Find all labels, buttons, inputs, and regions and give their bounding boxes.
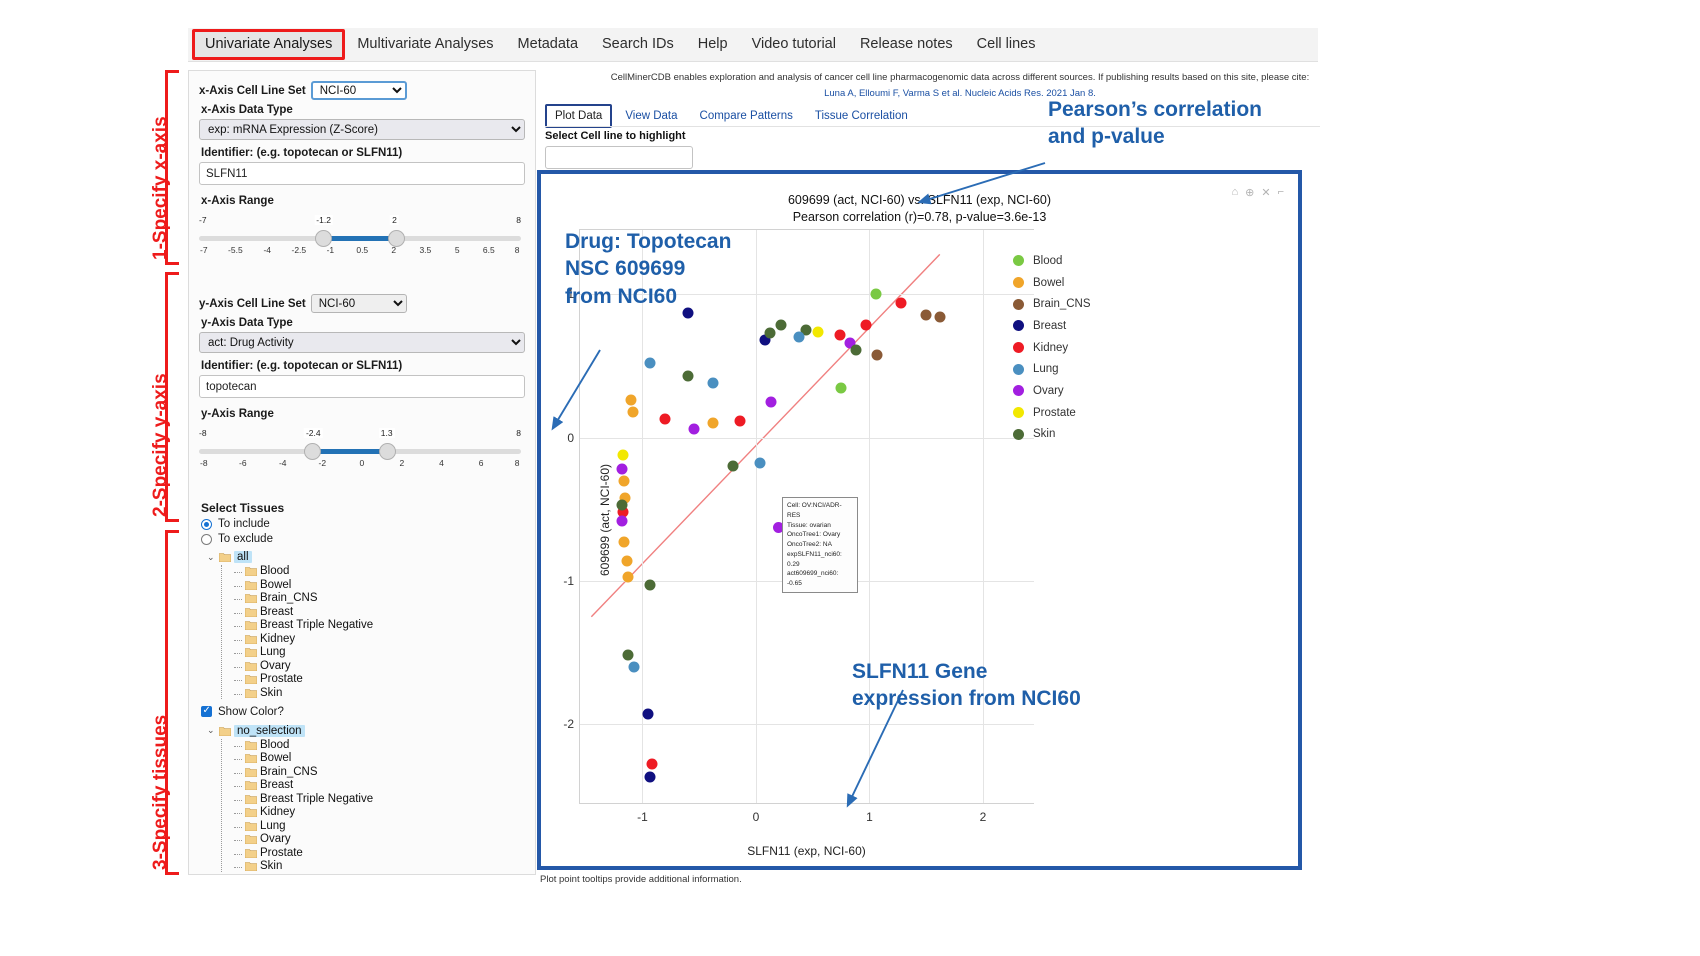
- x-gridline: [869, 230, 870, 803]
- scatter-point[interactable]: [645, 358, 656, 369]
- legend-swatch-icon: [1013, 255, 1024, 266]
- folder-icon: [245, 821, 257, 831]
- scatter-point[interactable]: [646, 759, 657, 770]
- x-tick-label: 0: [753, 810, 760, 824]
- subtab-tissue-correlation[interactable]: Tissue Correlation: [806, 105, 917, 127]
- scatter-point[interactable]: [616, 515, 627, 526]
- y-slider-ticks: -8 -6 -4 -2 0 2 4 6 8: [199, 458, 521, 470]
- radio-to-include[interactable]: To include: [201, 518, 525, 530]
- folder-icon: [245, 634, 257, 644]
- folder-icon: [245, 593, 257, 603]
- y-range-slider[interactable]: -8 8 -2.4 1.3 -8 -6 -4 -2 0 2 4 6 8: [199, 425, 521, 473]
- folder-icon: [245, 674, 257, 684]
- tree-item-label: Prostate: [260, 673, 303, 685]
- folder-icon: [245, 647, 257, 657]
- tree-excl-item-ovary[interactable]: Ovary: [245, 833, 525, 845]
- tissue-tree-include[interactable]: ⌄ all Blood Bowel Brain_CNS Breast Breas…: [207, 551, 525, 699]
- legend-label: Brain_CNS: [1033, 298, 1091, 310]
- scatter-point[interactable]: [629, 661, 640, 672]
- plot-title-line2: Pearson correlation (r)=0.78, p-value=3.…: [541, 209, 1298, 226]
- folder-icon: [245, 794, 257, 804]
- tree-item-breast[interactable]: Breast: [245, 606, 525, 618]
- checkbox-icon: [201, 706, 212, 717]
- folder-icon: [245, 753, 257, 763]
- scatter-point[interactable]: [660, 414, 671, 425]
- annotation-label-tissues: 3-Specify tissues: [150, 715, 172, 870]
- x-cellline-row: x-Axis Cell Line Set NCI-60: [199, 81, 525, 100]
- y-tick: -6: [239, 458, 247, 468]
- y-slider-value-high: 1.3: [379, 428, 395, 438]
- legend-item-brain_cns[interactable]: Brain_CNS: [1013, 293, 1091, 315]
- select-tissues-title: Select Tissues: [201, 501, 525, 515]
- folder-icon: [245, 767, 257, 777]
- x-tick: -2.5: [291, 245, 306, 255]
- scatter-point[interactable]: [616, 464, 627, 475]
- y-tick-label: 0: [567, 431, 574, 445]
- subtab-view-data[interactable]: View Data: [616, 105, 686, 127]
- scatter-point[interactable]: [896, 298, 907, 309]
- radio-include-label: To include: [218, 518, 270, 530]
- y-gridline: [580, 438, 1034, 439]
- y-slider-fill: [312, 449, 386, 454]
- legend-label: Skin: [1033, 428, 1055, 440]
- tree-item-ovary[interactable]: Ovary: [245, 660, 525, 672]
- tree-item-label: Kidney: [260, 806, 295, 818]
- tree-excl-item-brain-cns[interactable]: Brain_CNS: [245, 766, 525, 778]
- nav-tab-search-ids[interactable]: Search IDs: [590, 31, 686, 58]
- tree-item-label: Kidney: [260, 633, 295, 645]
- point-tooltip: Cell: OV:NCI/ADR-RES Tissue: ovarian Onc…: [782, 497, 858, 593]
- radio-to-exclude[interactable]: To exclude: [201, 533, 525, 545]
- folder-icon: [245, 848, 257, 858]
- folder-icon: [245, 620, 257, 630]
- plot-title-line1: 609699 (act, NCI-60) vs. SLFN11 (exp, NC…: [541, 192, 1298, 209]
- x-tick: 5: [455, 245, 460, 255]
- plot-legend[interactable]: BloodBowelBrain_CNSBreastKidneyLungOvary…: [1013, 250, 1091, 445]
- legend-item-lung[interactable]: Lung: [1013, 358, 1091, 380]
- nav-tab-release-notes[interactable]: Release notes: [848, 31, 965, 58]
- folder-icon: [245, 566, 257, 576]
- scatter-point[interactable]: [707, 418, 718, 429]
- legend-label: Ovary: [1033, 385, 1064, 397]
- plotly-modebar[interactable]: ⌂ ⊕ ✕ ⌐: [1231, 186, 1284, 199]
- x-gridline: [983, 230, 984, 803]
- y-tick: 4: [439, 458, 444, 468]
- legend-label: Bowel: [1033, 277, 1064, 289]
- tree-item-label: Brain_CNS: [260, 592, 318, 604]
- y-identifier-label: Identifier: (e.g. topotecan or SLFN11): [201, 360, 525, 372]
- legend-item-blood[interactable]: Blood: [1013, 250, 1091, 272]
- x-range-max: 8: [516, 215, 521, 225]
- show-color-checkbox[interactable]: Show Color?: [201, 706, 525, 718]
- x-tick: 2: [391, 245, 396, 255]
- y-tick-label: -2: [563, 717, 574, 731]
- x-range-label: x-Axis Range: [201, 195, 525, 207]
- y-range-max: 8: [516, 428, 521, 438]
- tree-root-no-selection-label: no_selection: [234, 725, 305, 737]
- folder-icon: [245, 607, 257, 617]
- x-cellline-select[interactable]: NCI-60: [311, 81, 407, 100]
- folder-icon: [245, 661, 257, 671]
- x-tick-label: 2: [980, 810, 987, 824]
- tissue-tree-exclude[interactable]: ⌄ no_selection Blood Bowel Brain_CNS Bre…: [207, 725, 525, 873]
- scatter-point[interactable]: [622, 571, 633, 582]
- tree-item-breast-triple-negative[interactable]: Breast Triple Negative: [245, 619, 525, 631]
- tree-item-label: Prostate: [260, 847, 303, 859]
- scatter-point[interactable]: [619, 475, 630, 486]
- scatter-point[interactable]: [735, 415, 746, 426]
- legend-swatch-icon: [1013, 277, 1024, 288]
- y-cellline-row: y-Axis Cell Line Set NCI-60: [199, 294, 525, 313]
- tree-item-kidney[interactable]: Kidney: [245, 633, 525, 645]
- legend-swatch-icon: [1013, 299, 1024, 310]
- scatter-point[interactable]: [921, 309, 932, 320]
- folder-icon: [245, 807, 257, 817]
- x-datatype-label: x-Axis Data Type: [201, 104, 525, 116]
- x-tick-label: 1: [866, 810, 873, 824]
- x-gridline: [756, 230, 757, 803]
- nav-tab-cell-lines[interactable]: Cell lines: [965, 31, 1048, 58]
- scatter-point[interactable]: [872, 349, 883, 360]
- tree-item-label: Blood: [260, 739, 289, 751]
- tooltip-act: act609699_nci60: -0.65: [787, 569, 853, 589]
- legend-label: Kidney: [1033, 342, 1068, 354]
- show-color-label: Show Color?: [218, 706, 284, 718]
- tree-item-label: Skin: [260, 860, 282, 872]
- tooltip-oncotree1: OncoTree1: Ovary: [787, 530, 853, 540]
- nav-tab-video-tutorial[interactable]: Video tutorial: [740, 31, 848, 58]
- tree-excl-item-kidney[interactable]: Kidney: [245, 806, 525, 818]
- highlight-cellline-input[interactable]: [545, 146, 693, 169]
- tree-excl-item-breast[interactable]: Breast: [245, 779, 525, 791]
- scatter-point[interactable]: [836, 382, 847, 393]
- highlight-cellline-label: Select Cell line to highlight: [545, 130, 686, 142]
- y-datatype-select[interactable]: act: Drug Activity: [199, 332, 525, 353]
- y-range-min: -8: [199, 428, 207, 438]
- x-datatype-select[interactable]: exp: mRNA Expression (Z-Score): [199, 119, 525, 140]
- x-axis-label: SLFN11 (exp, NCI-60): [579, 844, 1034, 858]
- y-cellline-label: y-Axis Cell Line Set: [199, 298, 306, 310]
- tree-excl-item-blood[interactable]: Blood: [245, 739, 525, 751]
- y-identifier-input[interactable]: [199, 375, 525, 398]
- expander-icon[interactable]: ⌄: [207, 552, 216, 563]
- expander-icon[interactable]: ⌄: [207, 725, 216, 736]
- scatter-point[interactable]: [616, 500, 627, 511]
- x-tick: -5.5: [228, 245, 243, 255]
- x-tick: 0.5: [356, 245, 368, 255]
- legend-swatch-icon: [1013, 429, 1024, 440]
- tree-item-label: Lung: [260, 646, 286, 658]
- tree-excl-item-breast-triple-negative[interactable]: Breast Triple Negative: [245, 793, 525, 805]
- tree-excl-item-bowel[interactable]: Bowel: [245, 752, 525, 764]
- legend-swatch-icon: [1013, 320, 1024, 331]
- legend-label: Blood: [1033, 255, 1062, 267]
- pearson-annotation: Pearson’s correlation and p-value: [1048, 96, 1338, 151]
- x-slider-ticks: -7 -5.5 -4 -2.5 -1 0.5 2 3.5 5 6.5 8: [199, 245, 521, 257]
- tree-item-label: Breast: [260, 779, 293, 791]
- tooltip-exp: expSLFN11_nci60: 0.29: [787, 550, 853, 570]
- x-identifier-input[interactable]: [199, 162, 525, 185]
- x-tick: -4: [263, 245, 271, 255]
- x-slider-value-high: 2: [390, 215, 399, 225]
- legend-item-skin[interactable]: Skin: [1013, 424, 1091, 446]
- scatter-point[interactable]: [626, 395, 637, 406]
- legend-swatch-icon: [1013, 342, 1024, 353]
- legend-label: Breast: [1033, 320, 1066, 332]
- scatter-point[interactable]: [619, 537, 630, 548]
- scatter-point[interactable]: [813, 326, 824, 337]
- scatter-point[interactable]: [755, 458, 766, 469]
- nav-tab-metadata[interactable]: Metadata: [506, 31, 590, 58]
- scatter-point[interactable]: [688, 424, 699, 435]
- tree-excl-item-lung[interactable]: Lung: [245, 820, 525, 832]
- x-tick-label: -1: [637, 810, 648, 824]
- subtab-compare-patterns[interactable]: Compare Patterns: [691, 105, 802, 127]
- scatter-point[interactable]: [765, 396, 776, 407]
- nav-tab-univariate-analyses[interactable]: Univariate Analyses: [192, 29, 345, 60]
- x-range-min: -7: [199, 215, 207, 225]
- radio-exclude-label: To exclude: [218, 533, 273, 545]
- tree-item-label: Skin: [260, 687, 282, 699]
- tree-item-label: Breast Triple Negative: [260, 793, 373, 805]
- zoom-in-icon[interactable]: ⊕: [1245, 186, 1254, 199]
- y-cellline-select[interactable]: NCI-60: [311, 294, 407, 313]
- plot-title: 609699 (act, NCI-60) vs. SLFN11 (exp, NC…: [541, 192, 1298, 226]
- radio-include-icon: [201, 519, 212, 530]
- legend-item-kidney[interactable]: Kidney: [1013, 337, 1091, 359]
- tooltip-cell: Cell: OV:NCI/ADR-RES: [787, 501, 853, 521]
- tree-root-all[interactable]: ⌄ all: [207, 551, 525, 563]
- x-tick: 8: [515, 245, 520, 255]
- scatter-point[interactable]: [764, 328, 775, 339]
- subtab-bar: Plot Data View Data Compare Patterns Tis…: [545, 104, 917, 128]
- tree-item-bowel[interactable]: Bowel: [245, 579, 525, 591]
- scatter-point[interactable]: [628, 406, 639, 417]
- camera-icon[interactable]: ⌂: [1231, 186, 1238, 199]
- folder-icon: [245, 834, 257, 844]
- x-cellline-label: x-Axis Cell Line Set: [199, 85, 306, 97]
- tree-item-label: Ovary: [260, 833, 291, 845]
- x-identifier-label: Identifier: (e.g. topotecan or SLFN11): [201, 147, 525, 159]
- scatter-point[interactable]: [934, 312, 945, 323]
- x-tick: 6.5: [483, 245, 495, 255]
- close-icon[interactable]: ✕: [1261, 186, 1270, 199]
- y-tick: 2: [399, 458, 404, 468]
- tree-root-no-selection[interactable]: ⌄ no_selection: [207, 725, 525, 737]
- x-tick: 3.5: [419, 245, 431, 255]
- scatter-point[interactable]: [707, 378, 718, 389]
- scatter-point[interactable]: [618, 449, 629, 460]
- tree-root-all-label: all: [234, 551, 252, 563]
- tree-item-label: Bowel: [260, 752, 291, 764]
- legend-label: Lung: [1033, 363, 1059, 375]
- y-tick: 0: [360, 458, 365, 468]
- citation-line-1: CellMinerCDB enables exploration and ana…: [600, 72, 1320, 83]
- folder-icon: [245, 740, 257, 750]
- scatter-point[interactable]: [834, 329, 845, 340]
- x-tick: -1: [327, 245, 335, 255]
- nav-tab-multivariate-analyses[interactable]: Multivariate Analyses: [345, 31, 505, 58]
- tree-item-label: Breast Triple Negative: [260, 619, 373, 631]
- tooltip-oncotree2: OncoTree2: NA: [787, 540, 853, 550]
- x-range-slider[interactable]: -7 8 -1.2 2 -7 -5.5 -4 -2.5 -1 0.5 2 3.5…: [199, 212, 521, 260]
- legend-swatch-icon: [1013, 385, 1024, 396]
- legend-label: Prostate: [1033, 407, 1076, 419]
- y-slider-value-low: -2.4: [304, 428, 323, 438]
- tree-excl-item-skin[interactable]: Skin: [245, 860, 525, 872]
- scatter-point[interactable]: [645, 580, 656, 591]
- folder-icon: [245, 688, 257, 698]
- tree-item-label: Brain_CNS: [260, 766, 318, 778]
- tree-item-prostate[interactable]: Prostate: [245, 673, 525, 685]
- y-range-label: y-Axis Range: [201, 408, 525, 420]
- folder-icon: [219, 552, 231, 562]
- y-tick: -8: [200, 458, 208, 468]
- scatter-point[interactable]: [775, 319, 786, 330]
- legend-item-ovary[interactable]: Ovary: [1013, 380, 1091, 402]
- legend-item-prostate[interactable]: Prostate: [1013, 402, 1091, 424]
- folder-icon: [245, 580, 257, 590]
- x-slider-value-low: -1.2: [314, 215, 333, 225]
- scatter-point[interactable]: [622, 650, 633, 661]
- annotation-label-x-axis: 1-Specify x-axis: [150, 116, 172, 260]
- x-slider-fill: [324, 236, 395, 241]
- annotation-label-y-axis: 2-Specify y-axis: [150, 373, 172, 517]
- tree-item-brain-cns[interactable]: Brain_CNS: [245, 592, 525, 604]
- tree-excl-item-prostate[interactable]: Prostate: [245, 847, 525, 859]
- legend-swatch-icon: [1013, 364, 1024, 375]
- y-datatype-label: y-Axis Data Type: [201, 317, 525, 329]
- tree-item-label: Ovary: [260, 660, 291, 672]
- main-navbar: Univariate AnalysesMultivariate Analyses…: [188, 28, 1318, 62]
- tree-item-label: Blood: [260, 565, 289, 577]
- scatter-point[interactable]: [645, 772, 656, 783]
- drug-annotation: Drug: Topotecan NSC 609699 from NCI60: [565, 228, 795, 310]
- x-tick: -7: [200, 245, 208, 255]
- legend-item-bowel[interactable]: Bowel: [1013, 272, 1091, 294]
- radio-exclude-icon: [201, 534, 212, 545]
- scatter-point[interactable]: [682, 371, 693, 382]
- subtab-plot-data[interactable]: Plot Data: [545, 104, 612, 128]
- control-panel: x-Axis Cell Line Set NCI-60 x-Axis Data …: [188, 70, 536, 875]
- gene-annotation: SLFN11 Gene expression from NCI60: [852, 658, 1152, 713]
- tree-guide: [221, 739, 222, 873]
- folder-icon: [219, 726, 231, 736]
- legend-item-breast[interactable]: Breast: [1013, 315, 1091, 337]
- scatter-point[interactable]: [728, 461, 739, 472]
- folder-icon: [245, 861, 257, 871]
- y-tick: 6: [479, 458, 484, 468]
- nav-tab-help[interactable]: Help: [686, 31, 740, 58]
- tree-item-lung[interactable]: Lung: [245, 646, 525, 658]
- y-tick-label: -1: [563, 574, 574, 588]
- folder-icon: [245, 780, 257, 790]
- scatter-point[interactable]: [861, 319, 872, 330]
- scatter-point[interactable]: [794, 332, 805, 343]
- tree-item-skin[interactable]: Skin: [245, 687, 525, 699]
- y-tick: 8: [515, 458, 520, 468]
- autoscale-icon[interactable]: ⌐: [1278, 186, 1284, 199]
- scatter-point[interactable]: [850, 345, 861, 356]
- plot-footnote: Plot point tooltips provide additional i…: [540, 874, 742, 885]
- y-gridline: [580, 724, 1034, 725]
- scatter-point[interactable]: [871, 289, 882, 300]
- tree-item-label: Lung: [260, 820, 286, 832]
- scatter-point[interactable]: [621, 555, 632, 566]
- legend-swatch-icon: [1013, 407, 1024, 418]
- tree-item-blood[interactable]: Blood: [245, 565, 525, 577]
- tooltip-tissue: Tissue: ovarian: [787, 521, 853, 531]
- y-tick: -4: [279, 458, 287, 468]
- tree-item-label: Breast: [260, 606, 293, 618]
- tree-item-label: Bowel: [260, 579, 291, 591]
- scatter-point[interactable]: [643, 709, 654, 720]
- y-tick: -2: [319, 458, 327, 468]
- tree-guide: [221, 565, 222, 699]
